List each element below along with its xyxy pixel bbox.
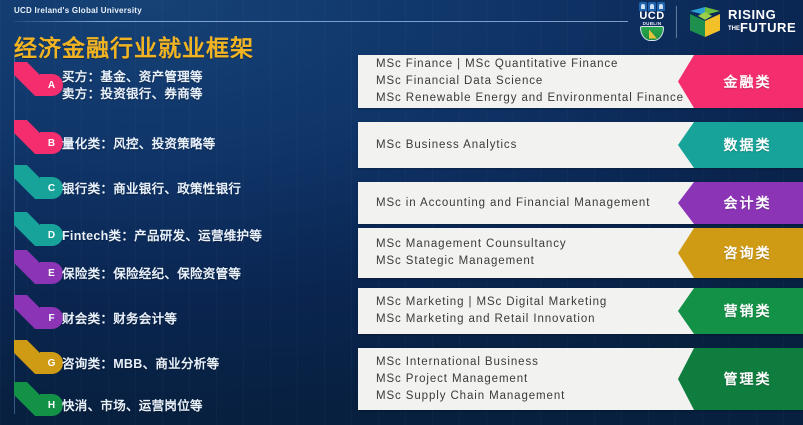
program-name: MSc International Business: [376, 354, 678, 371]
program-category-label: 咨询类: [710, 243, 772, 263]
category-label-line: 买方：基金、资产管理等: [62, 70, 203, 84]
category-label: 快消、市场、运营岗位等: [62, 398, 352, 415]
program-category-tab[interactable]: 会计类: [678, 182, 803, 224]
program-name: MSc Stategic Management: [376, 253, 678, 270]
program-card-body: MSc in Accounting and Financial Manageme…: [358, 182, 678, 224]
category-row[interactable]: C银行类：商业银行、政策性银行: [0, 165, 352, 209]
program-category-tab[interactable]: 数据类: [678, 122, 803, 168]
category-label-line: 咨询类：MBB、商业分析等: [62, 357, 219, 371]
program-card[interactable]: MSc International BusinessMSc Project Ma…: [358, 348, 803, 410]
program-category-label: 会计类: [710, 193, 772, 213]
category-label-line: 量化类：风控、投资策略等: [62, 137, 216, 151]
category-label: 保险类：保险经纪、保险资管等: [62, 266, 352, 283]
program-card[interactable]: MSc in Accounting and Financial Manageme…: [358, 182, 803, 224]
harp-icon: [649, 30, 657, 39]
program-card[interactable]: MSc Marketing | MSc Digital MarketingMSc…: [358, 288, 803, 334]
badge-letter: H: [40, 394, 63, 416]
category-row[interactable]: F 财会类：财务会计等: [0, 295, 352, 339]
program-category-label: 管理类: [710, 369, 772, 389]
badge-letter: B: [40, 132, 63, 154]
program-category-tab[interactable]: 管理类: [678, 348, 803, 410]
badge-letter: G: [40, 352, 63, 374]
category-badge-e: E: [14, 250, 63, 284]
category-badge-f: F: [14, 295, 63, 329]
cube-icon: [690, 7, 720, 37]
category-label-line: 财会类：财务会计等: [62, 312, 177, 326]
program-name: MSc Marketing | MSc Digital Marketing: [376, 294, 678, 311]
category-label-line: 卖方：投资银行、券商等: [62, 86, 352, 103]
program-category-tab[interactable]: 金融类: [678, 55, 803, 108]
program-card-body: MSc International BusinessMSc Project Ma…: [358, 348, 678, 410]
program-name: MSc Project Management: [376, 371, 678, 388]
category-badge-d: D: [14, 212, 63, 246]
program-category-label: 营销类: [710, 301, 772, 321]
ucd-tagline: UCD Ireland's Global University: [14, 6, 142, 15]
category-label-line: 保险类：保险经纪、保险资管等: [62, 267, 241, 281]
category-row[interactable]: B量化类：风控、投资策略等: [0, 120, 352, 164]
category-label: 银行类：商业银行、政策性银行: [62, 181, 352, 198]
badge-letter: E: [40, 262, 63, 284]
rising-future-line2: THEFUTURE: [728, 21, 796, 36]
program-card[interactable]: MSc Business Analytics数据类: [358, 122, 803, 168]
program-card[interactable]: MSc Management CounsultancyMSc Stategic …: [358, 228, 803, 278]
header-rule: [14, 21, 628, 22]
header-logo-divider: [676, 6, 677, 38]
program-card-body: MSc Business Analytics: [358, 122, 678, 168]
category-row[interactable]: E保险类：保险经纪、保险资管等: [0, 250, 352, 294]
category-label: 咨询类：MBB、商业分析等: [62, 356, 352, 373]
program-name: MSc Finance | MSc Quantitative Finance: [376, 56, 678, 73]
program-category-tab[interactable]: 咨询类: [678, 228, 803, 278]
badge-letter: A: [40, 74, 63, 96]
category-label: 买方：基金、资产管理等卖方：投资银行、券商等: [62, 69, 352, 103]
program-name: MSc Marketing and Retail Innovation: [376, 311, 678, 328]
page-title: 经济金融行业就业框架: [14, 29, 254, 63]
category-row[interactable]: H快消、市场、运营岗位等: [0, 382, 352, 425]
badge-letter: F: [40, 307, 63, 329]
category-badge-h: H: [14, 382, 63, 416]
program-category-label: 数据类: [710, 135, 772, 155]
rising-future-line2-small: THE: [728, 26, 740, 32]
category-badge-b: B: [14, 120, 63, 154]
category-row[interactable]: A买方：基金、资产管理等卖方：投资银行、券商等: [0, 62, 352, 106]
category-row[interactable]: G咨询类：MBB、商业分析等: [0, 340, 352, 384]
category-badge-c: C: [14, 165, 63, 199]
program-card[interactable]: MSc Finance | MSc Quantitative FinanceMS…: [358, 55, 803, 108]
ucd-shield-icon: [640, 26, 664, 41]
rising-future-logo: RISING THEFUTURE: [690, 6, 800, 38]
program-name: MSc in Accounting and Financial Manageme…: [376, 195, 678, 212]
program-name: MSc Business Analytics: [376, 137, 678, 154]
ucd-logo: UCD DUBLIN: [632, 2, 672, 42]
program-name: MSc Renewable Energy and Environmental F…: [376, 90, 678, 107]
category-label-line: 快消、市场、运营岗位等: [62, 399, 203, 413]
program-card-body: MSc Finance | MSc Quantitative FinanceMS…: [358, 55, 678, 108]
program-card-body: MSc Management CounsultancyMSc Stategic …: [358, 228, 678, 278]
program-card-body: MSc Marketing | MSc Digital MarketingMSc…: [358, 288, 678, 334]
program-name: MSc Management Counsultancy: [376, 236, 678, 253]
category-badge-g: G: [14, 340, 63, 374]
category-badge-a: A: [14, 62, 63, 96]
badge-letter: D: [40, 224, 63, 246]
badge-letter: C: [40, 177, 63, 199]
category-label-line: 银行类：商业银行、政策性银行: [62, 182, 241, 196]
rising-future-line2-main: FUTURE: [740, 20, 796, 35]
program-category-tab[interactable]: 营销类: [678, 288, 803, 334]
category-label-line: Fintech类：产品研发、运营维护等: [62, 229, 262, 243]
category-label: 量化类：风控、投资策略等: [62, 136, 352, 153]
category-label: Fintech类：产品研发、运营维护等: [62, 228, 352, 245]
program-name: MSc Financial Data Science: [376, 73, 678, 90]
category-label: 财会类：财务会计等: [62, 311, 352, 328]
program-category-label: 金融类: [710, 72, 772, 92]
program-name: MSc Supply Chain Management: [376, 388, 678, 405]
slide-canvas: UCD Ireland's Global University UCD DUBL…: [0, 0, 803, 425]
